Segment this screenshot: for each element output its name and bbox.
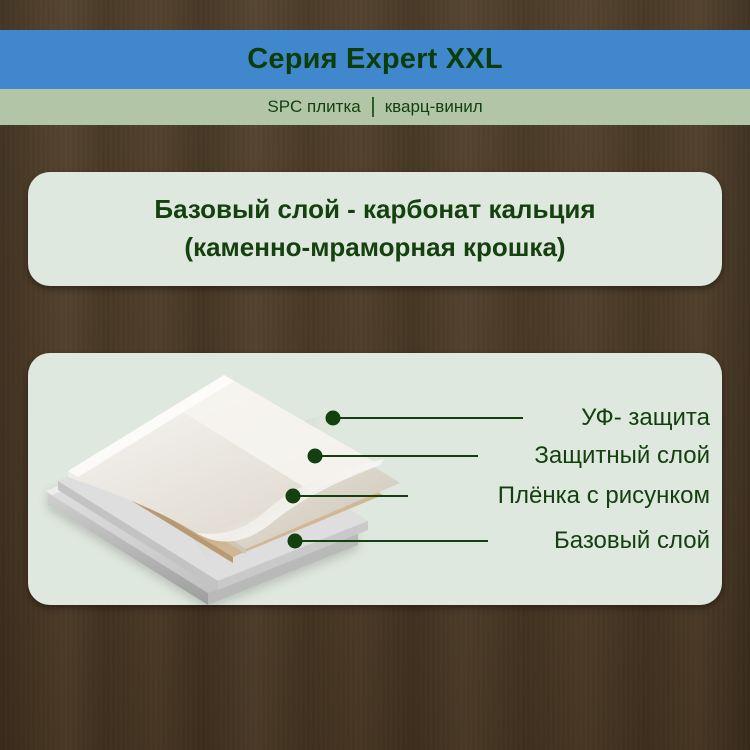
spc-tile-layered-panel-illustration [28,353,722,605]
subtitle-separator-icon [372,97,374,117]
structure-card [28,353,722,605]
header-title-band: Серия Expert XXL [0,30,750,89]
base-layer-line-1: Базовый слой - карбонат кальция [154,194,595,226]
header-subtitle-band: SPC плитка кварц-винил [0,89,750,125]
subtitle-row: SPC плитка кварц-винил [267,97,482,117]
page-title: Серия Expert XXL [247,43,503,76]
header: Серия Expert XXL SPC плитка кварц-винил [0,30,750,125]
base-layer-line-2: (каменно-мраморная крошка) [184,232,565,264]
base-layer-card: Базовый слой - карбонат кальция (каменно… [28,172,722,286]
subtitle-left: SPC плитка [267,97,360,117]
subtitle-right: кварц-винил [385,97,483,117]
